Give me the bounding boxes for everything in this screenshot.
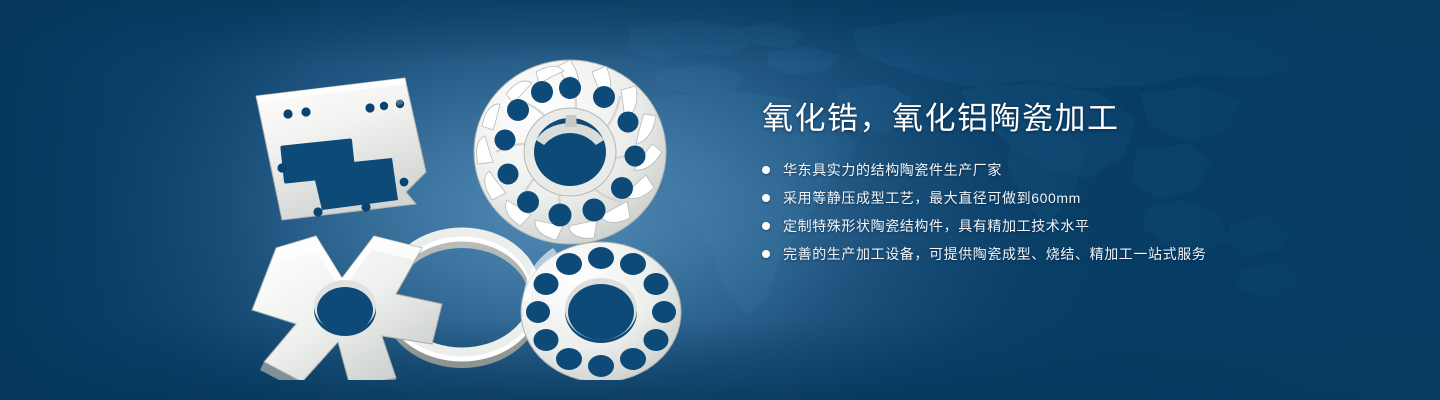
- list-item: 采用等静压成型工艺，最大直径可做到600mm: [762, 187, 1362, 209]
- banner-text-block: 氧化锆，氧化铝陶瓷加工 华东具实力的结构陶瓷件生产厂家 采用等静压成型工艺，最大…: [762, 100, 1362, 271]
- list-item: 完善的生产加工设备，可提供陶瓷成型、烧结、精加工一站式服务: [762, 243, 1362, 265]
- bullet-dot-icon: [762, 222, 770, 230]
- hero-banner: 氧化锆，氧化铝陶瓷加工 华东具实力的结构陶瓷件生产厂家 采用等静压成型工艺，最大…: [0, 0, 1440, 400]
- list-item-label: 定制特殊形状陶瓷结构件，具有精加工技术水平: [783, 216, 1090, 236]
- list-item-label: 完善的生产加工设备，可提供陶瓷成型、烧结、精加工一站式服务: [783, 244, 1206, 264]
- bullet-dot-icon: [762, 166, 770, 174]
- ceramic-perforated-disc-shape: [521, 242, 681, 380]
- bullet-dot-icon: [762, 250, 770, 258]
- list-item-label: 华东具实力的结构陶瓷件生产厂家: [783, 160, 1002, 180]
- feature-list: 华东具实力的结构陶瓷件生产厂家 采用等静压成型工艺，最大直径可做到600mm 定…: [762, 159, 1362, 265]
- bullet-dot-icon: [762, 194, 770, 202]
- page-title: 氧化锆，氧化铝陶瓷加工: [762, 100, 1362, 139]
- ceramic-cross-shaped-part-shape: [252, 236, 442, 380]
- ceramic-machined-plate-shape: [256, 78, 426, 220]
- list-item: 定制特殊形状陶瓷结构件，具有精加工技术水平: [762, 215, 1362, 237]
- list-item-label: 采用等静压成型工艺，最大直径可做到600mm: [783, 188, 1081, 208]
- ceramic-vaned-impeller-shape: [474, 60, 666, 244]
- ceramic-products-image: [230, 40, 730, 380]
- list-item: 华东具实力的结构陶瓷件生产厂家: [762, 159, 1362, 181]
